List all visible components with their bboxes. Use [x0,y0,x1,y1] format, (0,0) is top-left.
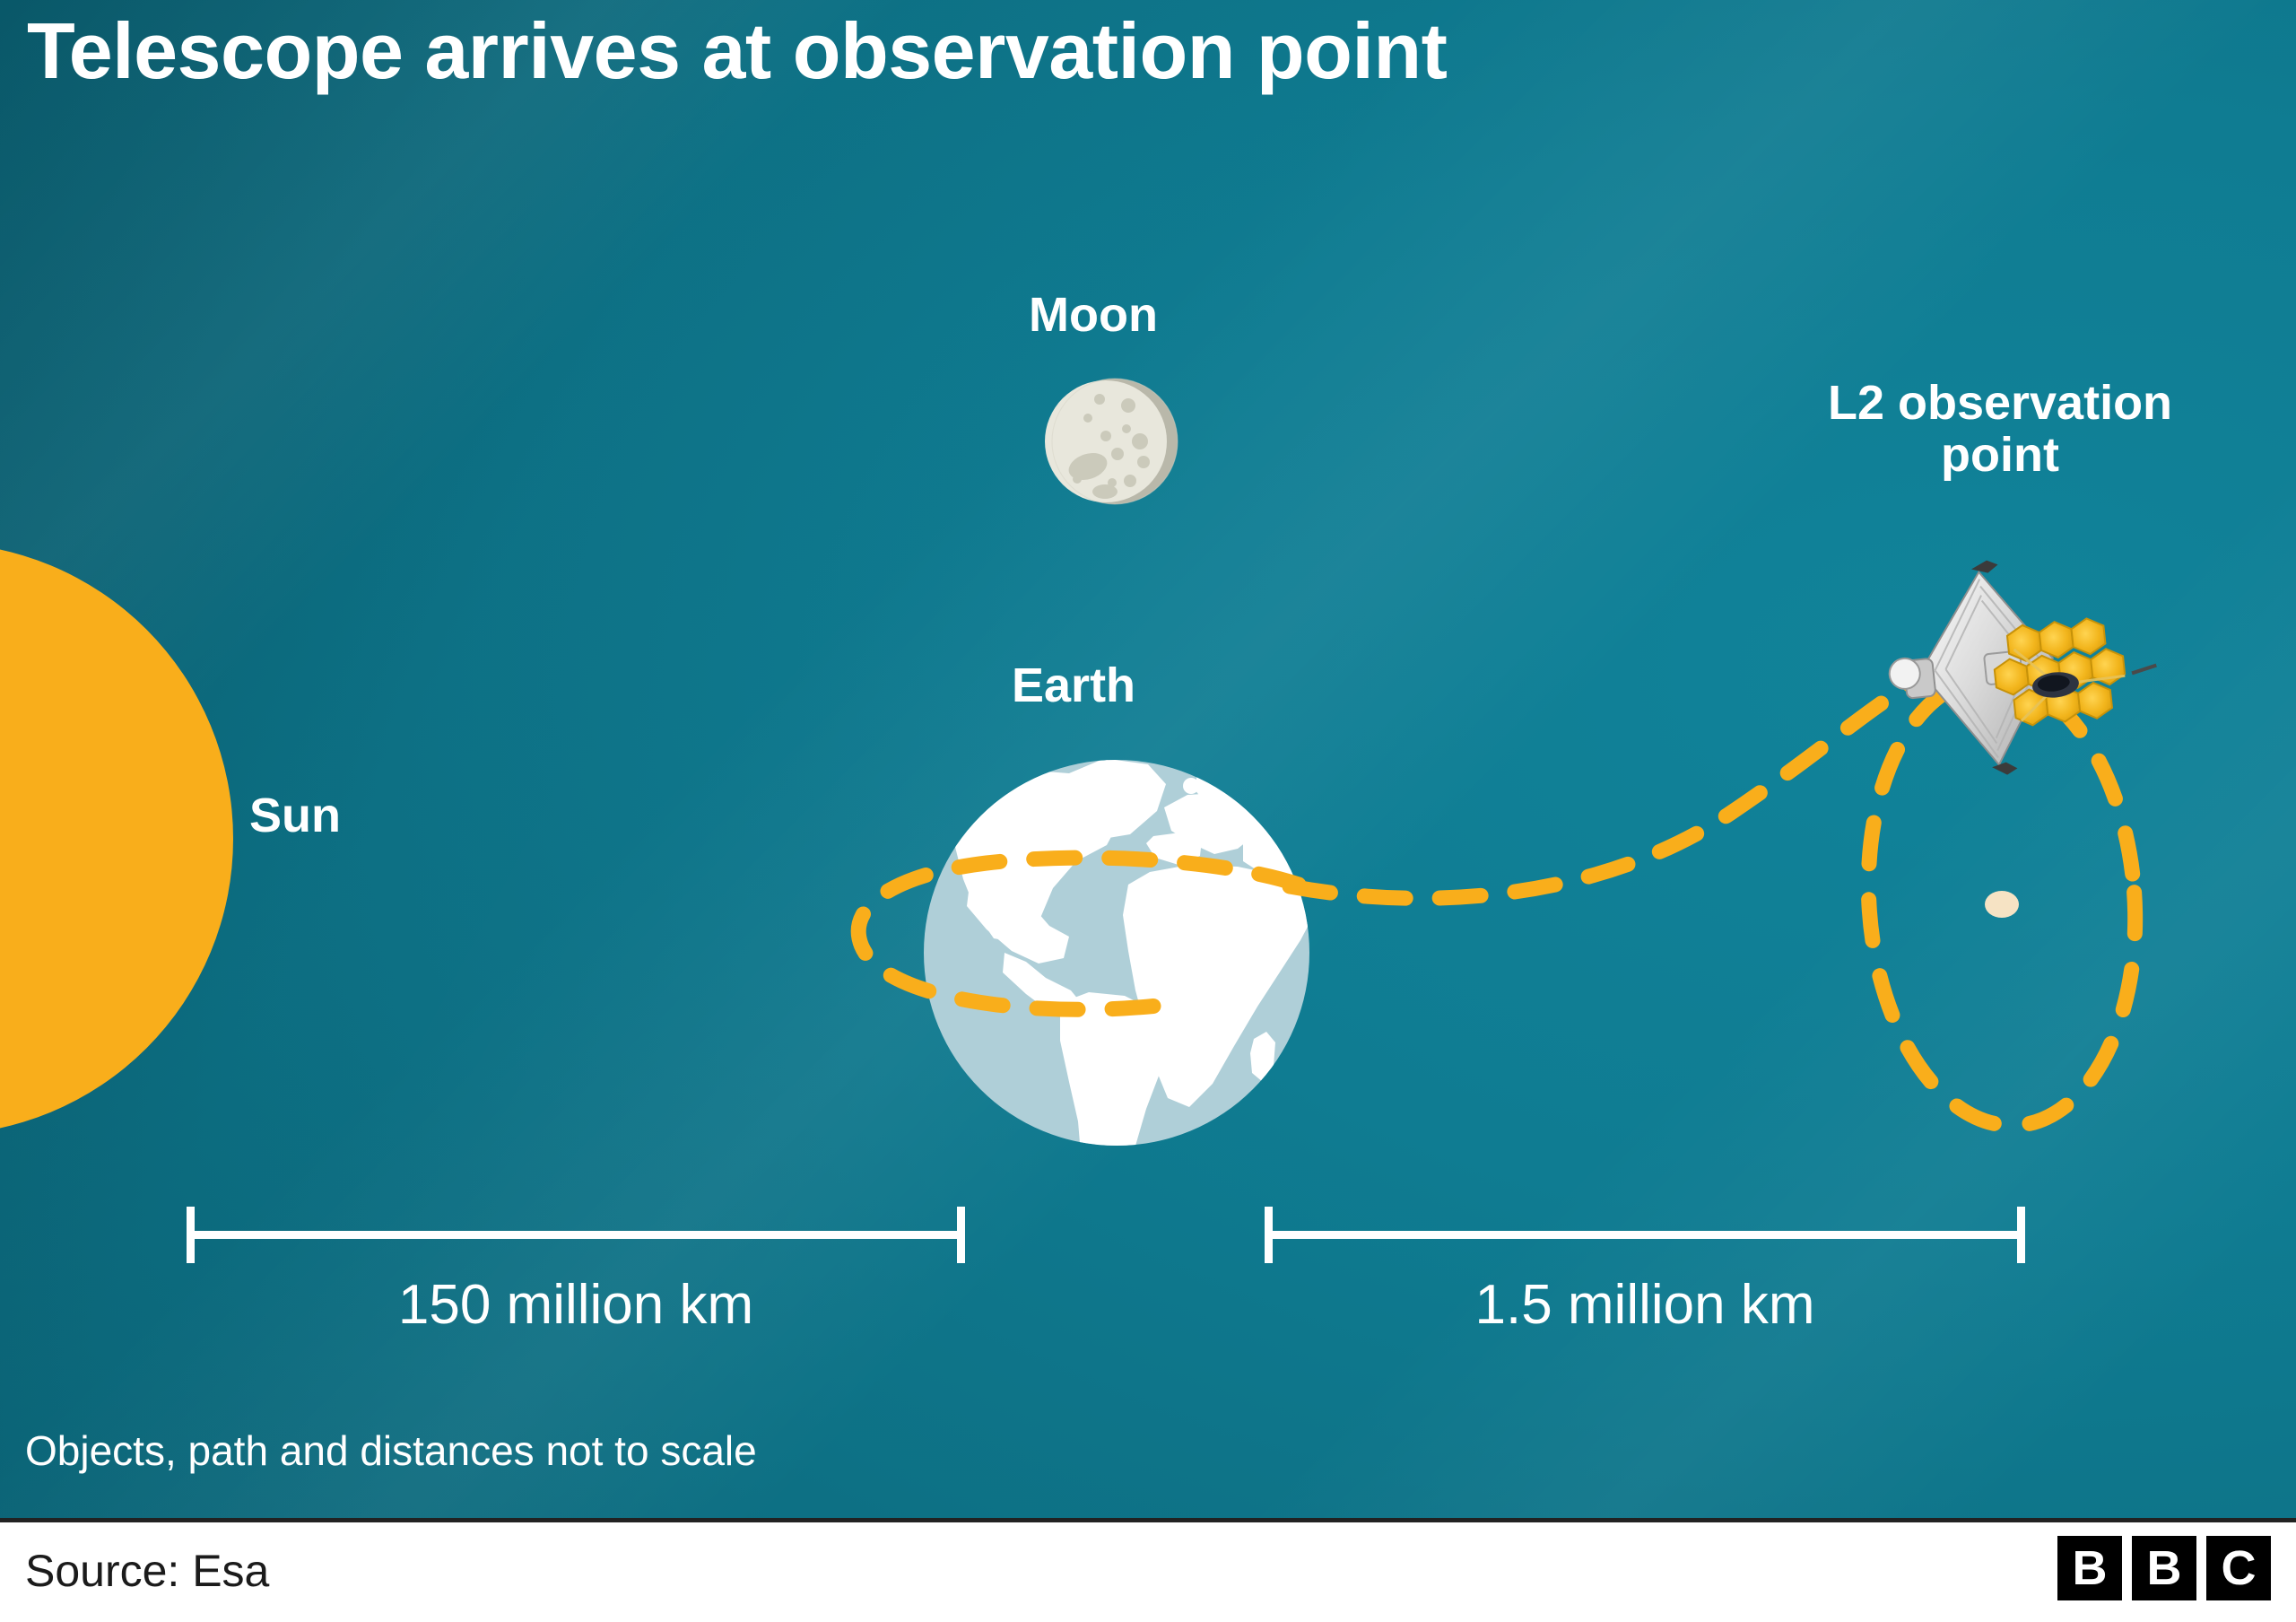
moon-label: Moon [1029,289,1158,341]
footer-bar [0,1522,2296,1622]
scale-rule [187,1231,965,1239]
l2-label-line2: point [1941,428,2059,482]
l2-label: L2 observation point [1686,377,2296,482]
scale-cap-right [957,1207,965,1263]
transfer-trajectory-path [1290,675,1930,898]
bbc-logo-letter-c: C [2206,1536,2271,1600]
scale-caption-earth-l2: 1.5 million km [1265,1273,2025,1337]
scale-disclaimer: Objects, path and distances not to scale [25,1426,757,1475]
scale-caption-sun-earth: 150 million km [187,1273,965,1337]
l2-point-marker [1985,891,2019,918]
bbc-logo: B B C [2057,1536,2271,1600]
l2-label-line1: L2 observation [1828,376,2172,430]
bbc-logo-letter-b1: B [2057,1536,2122,1600]
moon-graphic [1045,379,1178,504]
earth-graphic [924,737,1356,1231]
infographic-root: Telescope arrives at observation point S… [0,0,2296,1622]
source-credit: Source: Esa [25,1545,269,1597]
telescope-graphic [1879,544,2166,786]
scale-rule [1265,1231,2025,1239]
bbc-logo-letter-b2: B [2132,1536,2196,1600]
scale-cap-right [2017,1207,2025,1263]
earth-label: Earth [1012,659,1135,711]
